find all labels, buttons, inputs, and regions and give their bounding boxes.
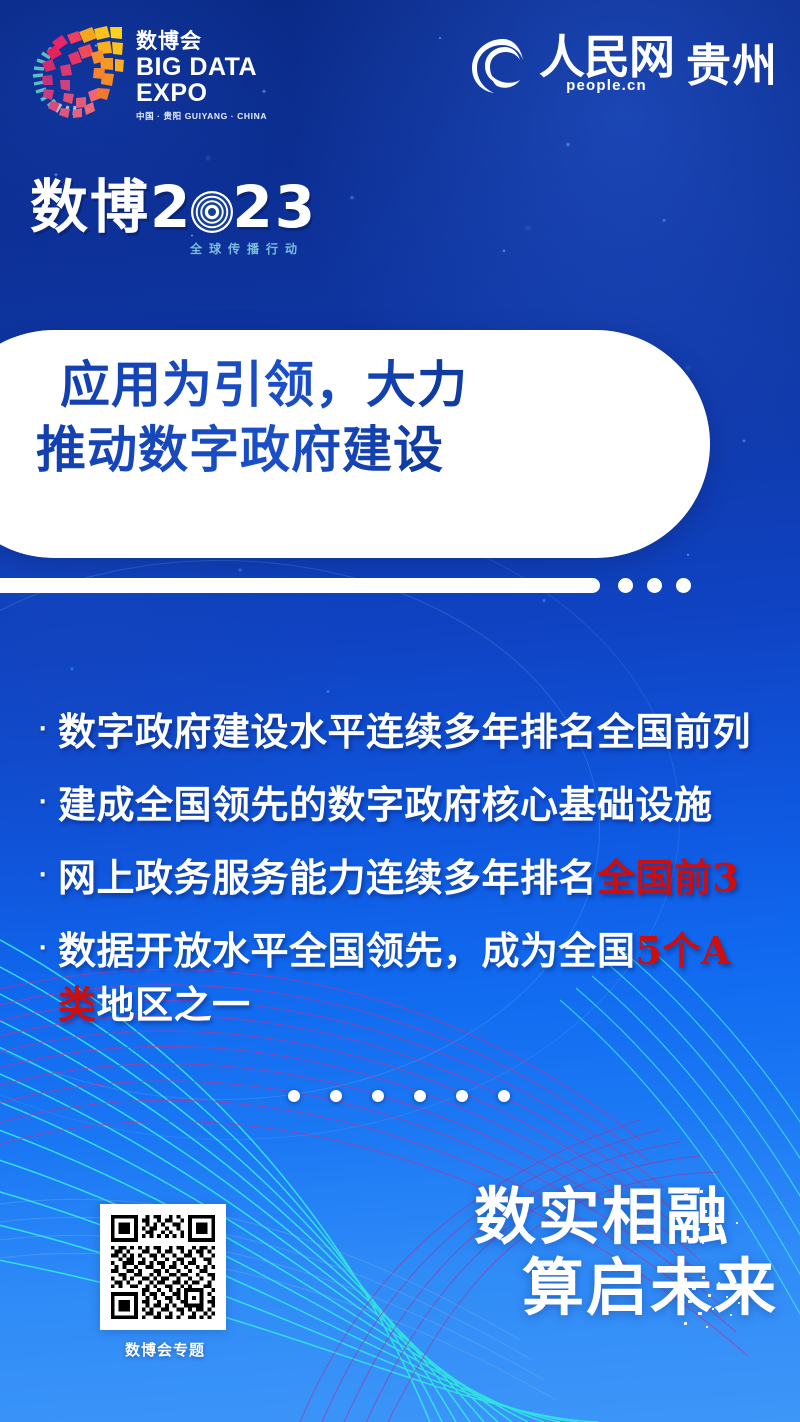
target-ring-icon xyxy=(190,185,234,229)
expo-location-line: 中国 · 贵阳 GUIYANG · CHINA xyxy=(136,110,267,122)
divider-bar xyxy=(0,578,600,593)
wordmark-subtitle: 全球传播行动 xyxy=(190,240,317,257)
bullet-plain: 数据开放水平全国领先，成为全国 xyxy=(58,928,636,973)
bullet-marker: · xyxy=(36,705,58,747)
divider-dot xyxy=(618,578,633,593)
bullet-highlight: 5个A xyxy=(636,928,731,973)
dot-separator xyxy=(288,1090,510,1102)
divider-dot xyxy=(647,578,662,593)
expo-en-line1: BIG DATA xyxy=(136,54,267,80)
expo-logo: 数博会 BIG DATA EXPO 中国 · 贵阳 GUIYANG · CHIN… xyxy=(18,22,267,126)
bullet-marker: · xyxy=(36,778,58,820)
separator-dot xyxy=(414,1090,426,1102)
separator-dot xyxy=(288,1090,300,1102)
qr-caption: 数博会专题 xyxy=(100,1339,230,1360)
bullet-marker: · xyxy=(36,851,58,893)
qr-block[interactable]: 数博会专题 xyxy=(100,1204,230,1360)
people-cn-region: 贵州 xyxy=(686,43,778,88)
bullet-plain: 地区之一 xyxy=(97,982,251,1027)
expo-cn-name: 数博会 xyxy=(136,30,267,54)
bullet-text-3: 网上政务服务能力连续多年排名全国前3 xyxy=(58,851,739,905)
poster-root: 数博会 BIG DATA EXPO 中国 · 贵阳 GUIYANG · CHIN… xyxy=(0,0,800,1422)
headline-line-1: 应用为引领，大力 xyxy=(60,352,660,417)
bullet-text-4: 数据开放水平全国领先，成为全国5个A类地区之一 xyxy=(58,924,731,1032)
slogan-line-2: 算启未来 xyxy=(474,1253,778,1324)
bullet-list: · 数字政府建设水平连续多年排名全国前列 · 建成全国领先的数字政府核心基础设施… xyxy=(36,705,776,1051)
shubo-2023-wordmark: 数博 2 23 全球传播行动 xyxy=(30,178,317,257)
list-item: · 网上政务服务能力连续多年排名全国前3 xyxy=(36,851,776,905)
qr-code-icon[interactable] xyxy=(100,1204,226,1330)
headline-card: 应用为引领，大力 推动数字政府建设 xyxy=(0,330,710,558)
separator-dot xyxy=(372,1090,384,1102)
slogan: 数实相融 算启未来 xyxy=(474,1182,778,1323)
list-item: · 数字政府建设水平连续多年排名全国前列 xyxy=(36,705,776,759)
people-cn-text: 人民网 people.cn xyxy=(539,36,674,93)
bullet-plain: 网上政务服务能力连续多年排名 xyxy=(58,855,597,900)
divider xyxy=(0,578,691,593)
expo-logo-text: 数博会 BIG DATA EXPO 中国 · 贵阳 GUIYANG · CHIN… xyxy=(136,26,267,123)
people-globe-icon xyxy=(465,34,527,96)
people-cn-logo: 人民网 people.cn 贵州 xyxy=(465,34,778,96)
bullet-plain: 数字政府建设水平连续多年排名全国前列 xyxy=(58,709,751,754)
divider-dot xyxy=(676,578,691,593)
wordmark-year-prefix: 2 xyxy=(150,178,192,236)
headline-line-2: 推动数字政府建设 xyxy=(36,417,660,482)
wordmark-year-suffix: 23 xyxy=(232,178,317,236)
separator-dot xyxy=(498,1090,510,1102)
bullet-highlight: 类 xyxy=(58,982,97,1027)
slogan-line-1: 数实相融 xyxy=(474,1182,730,1253)
bullet-plain: 建成全国领先的数字政府核心基础设施 xyxy=(58,782,713,827)
divider-dots xyxy=(618,578,691,593)
separator-dot xyxy=(456,1090,468,1102)
list-item: · 数据开放水平全国领先，成为全国5个A类地区之一 xyxy=(36,924,776,1032)
expo-en-line2: EXPO xyxy=(136,80,267,106)
wordmark-prefix: 数博 xyxy=(30,178,150,236)
bullet-highlight: 全国前3 xyxy=(597,855,739,900)
separator-dot xyxy=(330,1090,342,1102)
people-cn-name: 人民网 xyxy=(539,36,674,79)
bullet-marker: · xyxy=(36,924,58,966)
bullet-text-2: 建成全国领先的数字政府核心基础设施 xyxy=(58,778,713,832)
list-item: · 建成全国领先的数字政府核心基础设施 xyxy=(36,778,776,832)
wordmark-main: 数博 2 23 xyxy=(30,178,317,236)
bullet-text-1: 数字政府建设水平连续多年排名全国前列 xyxy=(58,705,751,759)
spiral-squares-icon xyxy=(18,22,126,126)
headline-text: 应用为引领，大力 推动数字政府建设 xyxy=(60,352,660,482)
